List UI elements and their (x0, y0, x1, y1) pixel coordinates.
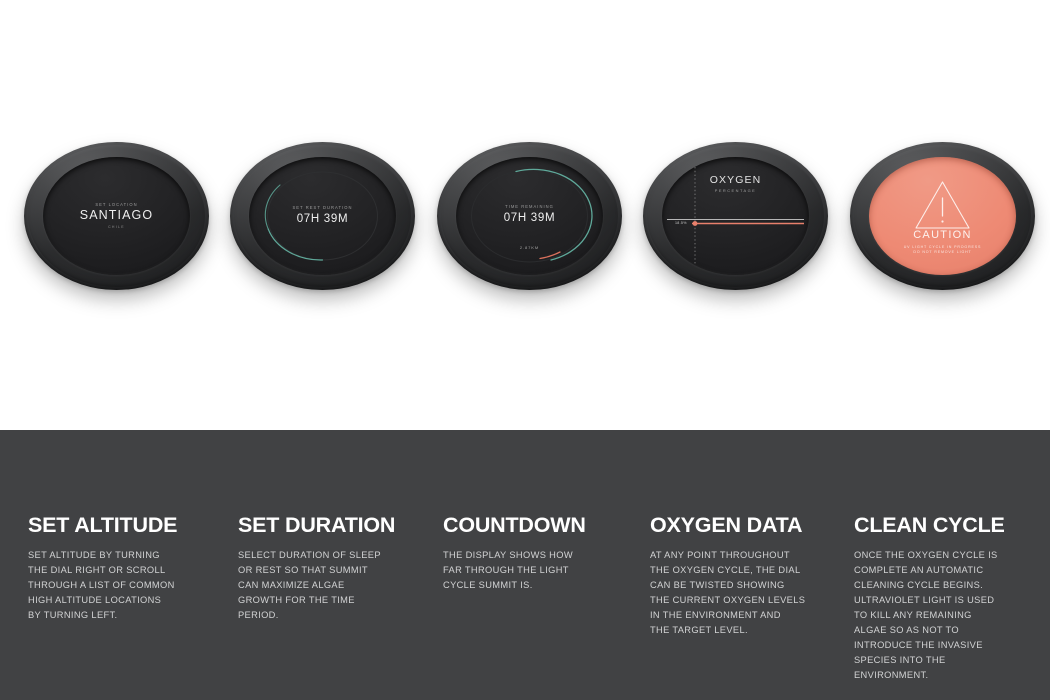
info-title: OXYGEN DATA (650, 513, 850, 538)
info-panel: SET ALTITUDE SET ALTITUDE BY TURNING THE… (0, 430, 1050, 700)
info-column-oxygen-data: OXYGEN DATA AT ANY POINT THROUGHOUT THE … (650, 513, 850, 638)
info-column-set-altitude: SET ALTITUDE SET ALTITUDE BY TURNING THE… (28, 513, 228, 623)
caution-line-2: DO NOT REMOVE LIGHT (869, 250, 1016, 255)
info-body: THE DISPLAY SHOWS HOW FAR THROUGH THE LI… (443, 548, 643, 593)
dial-duration-value: 07H 39M (249, 212, 396, 226)
dial-face[interactable]: OXYGEN PERCENTAGE 18.5% (662, 157, 809, 275)
info-title: CLEAN CYCLE (854, 513, 1044, 538)
info-title: COUNTDOWN (443, 513, 643, 538)
dial-location-label: SET LOCATION (43, 202, 190, 207)
oxygen-reading-value: 18.5% (675, 221, 687, 225)
warning-triangle-icon (869, 157, 1016, 275)
dial-face-caution[interactable]: CAUTION UV LIGHT CYCLE IN PROGRESS DO NO… (869, 157, 1016, 275)
dial-location-country: CHILE (43, 225, 190, 229)
dial-set-location[interactable]: SET LOCATION SANTIAGO CHILE (24, 142, 209, 290)
dial-countdown[interactable]: TIME REMAINING 07H 39M 2.87KM (437, 142, 622, 290)
dial-oxygen-data[interactable]: OXYGEN PERCENTAGE 18.5% (643, 142, 828, 290)
info-column-clean-cycle: CLEAN CYCLE ONCE THE OXYGEN CYCLE IS COM… (854, 513, 1044, 683)
oxygen-subtitle: PERCENTAGE (662, 189, 809, 194)
dial-set-duration[interactable]: SET REST DURATION 07H 39M (230, 142, 415, 290)
oxygen-title: OXYGEN (662, 174, 809, 187)
dial-countdown-distance: 2.87KM (456, 245, 603, 250)
info-column-countdown: COUNTDOWN THE DISPLAY SHOWS HOW FAR THRO… (443, 513, 643, 593)
dial-countdown-value: 07H 39M (456, 211, 603, 225)
dial-duration-label: SET REST DURATION (249, 205, 396, 210)
info-body: AT ANY POINT THROUGHOUT THE OXYGEN CYCLE… (650, 548, 850, 638)
info-title: SET ALTITUDE (28, 513, 228, 538)
info-title: SET DURATION (238, 513, 438, 538)
info-body: ONCE THE OXYGEN CYCLE IS COMPLETE AN AUT… (854, 548, 1044, 683)
info-body: SET ALTITUDE BY TURNING THE DIAL RIGHT O… (28, 548, 228, 623)
info-column-set-duration: SET DURATION SELECT DURATION OF SLEEP OR… (238, 513, 438, 623)
info-body: SELECT DURATION OF SLEEP OR REST SO THAT… (238, 548, 438, 623)
dial-face[interactable]: SET LOCATION SANTIAGO CHILE (43, 157, 190, 275)
caution-title: CAUTION (869, 229, 1016, 243)
dial-countdown-label: TIME REMAINING (456, 204, 603, 209)
dial-location-value: SANTIAGO (43, 208, 190, 224)
dial-face[interactable]: SET REST DURATION 07H 39M (249, 157, 396, 275)
dial-showcase-strip: SET LOCATION SANTIAGO CHILE SET REST DUR… (0, 0, 1050, 430)
dial-clean-cycle[interactable]: CAUTION UV LIGHT CYCLE IN PROGRESS DO NO… (850, 142, 1035, 290)
dial-face[interactable]: TIME REMAINING 07H 39M 2.87KM (456, 157, 603, 275)
